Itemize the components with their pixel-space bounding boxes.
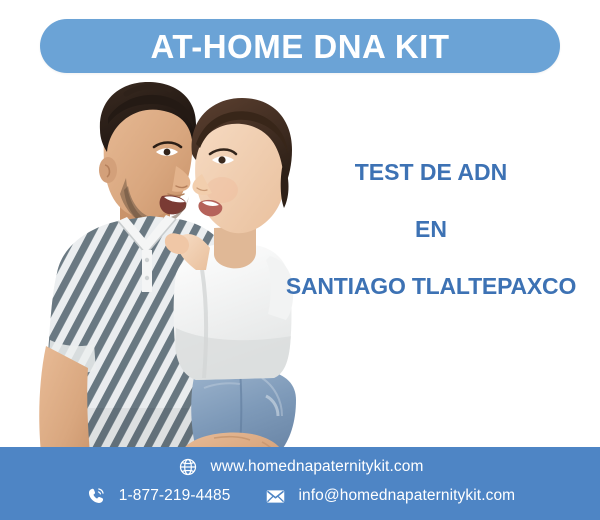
header-banner: AT-HOME DNA KIT	[40, 19, 560, 73]
globe-icon	[177, 456, 199, 478]
contact-website[interactable]: www.homednapaternitykit.com	[177, 456, 424, 478]
phone-text: 1-877-219-4485	[119, 487, 231, 505]
headline-line-1: TEST DE ADN	[262, 160, 600, 184]
phone-icon	[85, 485, 107, 507]
headline-line-2: EN	[262, 217, 600, 241]
location-headline: TEST DE ADN EN SANTIAGO TLALTEPAXCO	[262, 160, 600, 298]
headline-line-3: SANTIAGO TLALTEPAXCO	[262, 274, 600, 298]
poster-canvas: AT-HOME DNA KIT	[0, 0, 600, 520]
footer-contact-bar: www.homednapaternitykit.com 1-877-219-44…	[0, 447, 600, 520]
footer-row-phone-email: 1-877-219-4485 info@homednapaternitykit.…	[0, 485, 600, 507]
contact-phone[interactable]: 1-877-219-4485	[85, 485, 231, 507]
page-title: AT-HOME DNA KIT	[151, 30, 450, 63]
contact-email[interactable]: info@homednapaternitykit.com	[265, 485, 516, 507]
envelope-icon	[265, 485, 287, 507]
email-text: info@homednapaternitykit.com	[299, 487, 516, 505]
website-text: www.homednapaternitykit.com	[211, 458, 424, 476]
footer-row-website: www.homednapaternitykit.com	[0, 456, 600, 478]
